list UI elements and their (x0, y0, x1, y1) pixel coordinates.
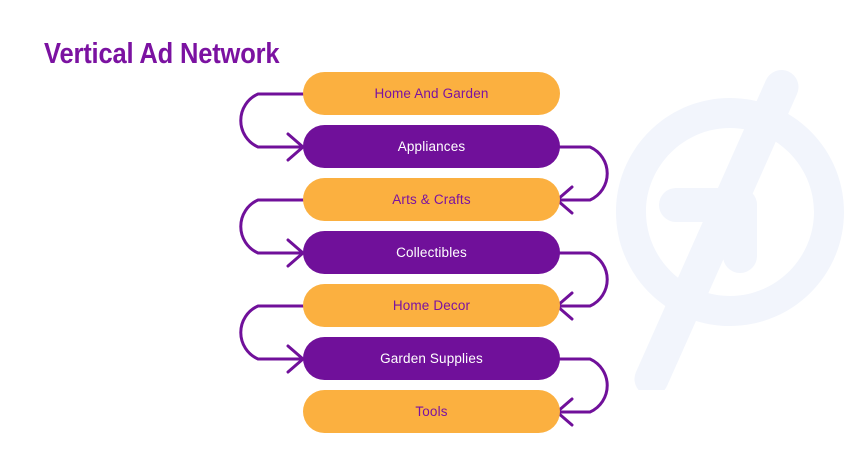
logo-watermark-icon (600, 70, 850, 390)
flow-bar-home-decor[interactable]: Home Decor (303, 284, 560, 327)
flow-bar-tools[interactable]: Tools (303, 390, 560, 433)
diagram-canvas: Vertical Ad Network (0, 0, 850, 450)
flow-bar-collectibles[interactable]: Collectibles (303, 231, 560, 274)
flow-bar-label: Appliances (398, 139, 466, 154)
connector-left-1 (241, 94, 312, 160)
flow-bar-label: Tools (415, 404, 447, 419)
flow-bar-label: Home Decor (393, 298, 470, 313)
flow-bar-label: Arts & Crafts (392, 192, 470, 207)
connector-left-3 (241, 306, 312, 372)
flow-bar-label: Collectibles (396, 245, 467, 260)
flow-bar-appliances[interactable]: Appliances (303, 125, 560, 168)
flow-bar-label: Garden Supplies (380, 351, 483, 366)
flow-bar-home-and-garden[interactable]: Home And Garden (303, 72, 560, 115)
flow-bar-garden-supplies[interactable]: Garden Supplies (303, 337, 560, 380)
flow-bar-label: Home And Garden (374, 86, 488, 101)
page-title: Vertical Ad Network (44, 38, 279, 70)
connector-left-2 (241, 200, 312, 266)
flow-bar-arts-and-crafts[interactable]: Arts & Crafts (303, 178, 560, 221)
flow-bar-list: Home And Garden Appliances Arts & Crafts… (303, 72, 560, 433)
